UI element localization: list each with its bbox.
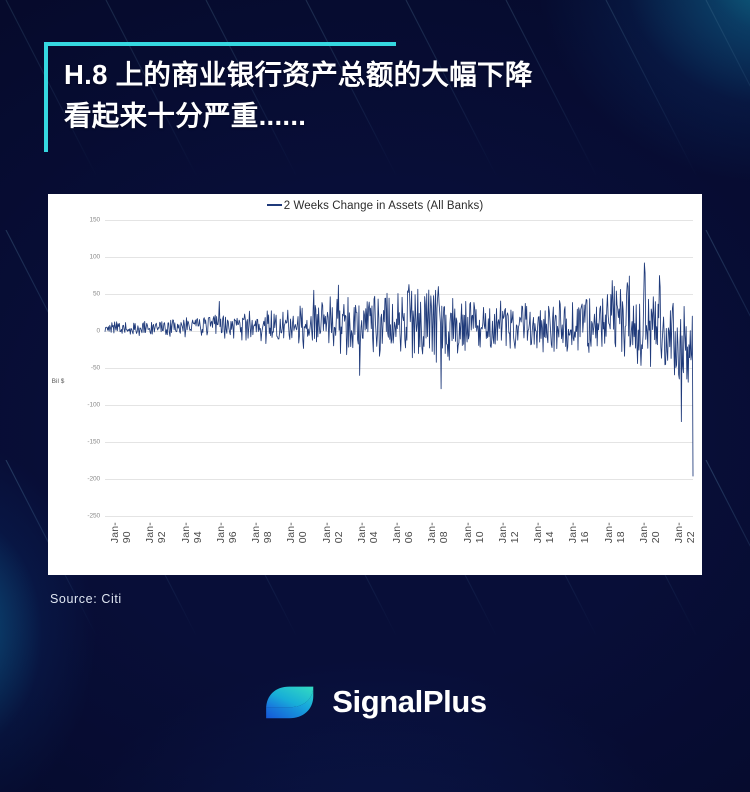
page-title: H.8 上的商业银行资产总额的大幅下降 看起来十分严重......	[44, 42, 704, 137]
signalplus-wave-logo-icon	[263, 678, 319, 726]
y-tick-label: 50	[66, 291, 100, 298]
x-tick-label: Jan-02	[321, 522, 345, 543]
title-accent-bar-top	[44, 42, 396, 46]
x-tick-label: Jan-08	[426, 522, 450, 543]
x-tick-label: Jan-20	[638, 522, 662, 543]
y-tick-label: 0	[66, 328, 100, 335]
legend-label: 2 Weeks Change in Assets (All Banks)	[284, 200, 484, 212]
y-axis-title: Bil $	[50, 378, 66, 385]
title-accent-bar-left	[44, 42, 48, 152]
brand-logo: SignalPlus	[0, 678, 750, 726]
x-tick-label: Jan-00	[285, 522, 309, 543]
x-tick-label: Jan-06	[391, 522, 415, 543]
y-tick-label: -50	[66, 365, 100, 372]
y-tick-label: 100	[66, 254, 100, 261]
plot-area: Jan-90Jan-92Jan-94Jan-96Jan-98Jan-00Jan-…	[105, 220, 693, 516]
gridline	[105, 516, 693, 517]
x-tick-label: Jan-22	[673, 522, 697, 543]
x-tick-label: Jan-14	[532, 522, 556, 543]
y-tick-label: -200	[66, 476, 100, 483]
x-tick-label: Jan-04	[356, 522, 380, 543]
plot-wrapper: Bil $ 150100500-50-100-150-200-250 Jan-9…	[48, 220, 702, 575]
y-tick-label: -100	[66, 402, 100, 409]
chart-legend: 2 Weeks Change in Assets (All Banks)	[48, 200, 702, 212]
series-line-chart	[105, 220, 693, 516]
x-tick-label: Jan-18	[603, 522, 627, 543]
y-tick-label: -150	[66, 439, 100, 446]
source-label: Source: Citi	[50, 592, 122, 606]
x-tick-label: Jan-16	[567, 522, 591, 543]
x-tick-label: Jan-94	[180, 522, 204, 543]
x-tick-label: Jan-96	[215, 522, 239, 543]
x-tick-label: Jan-98	[250, 522, 274, 543]
x-tick-label: Jan-10	[462, 522, 486, 543]
x-tick-label: Jan-92	[144, 522, 168, 543]
y-tick-label: -250	[66, 513, 100, 520]
chart-panel: 2 Weeks Change in Assets (All Banks) Bil…	[48, 194, 702, 575]
signalplus-wordmark: SignalPlus	[332, 684, 486, 720]
title-block: H.8 上的商业银行资产总额的大幅下降 看起来十分严重......	[44, 42, 704, 137]
x-tick-label: Jan-90	[109, 522, 133, 543]
series-path-2-weeks-change	[105, 263, 693, 476]
legend-line-swatch	[267, 204, 282, 206]
x-tick-label: Jan-12	[497, 522, 521, 543]
y-tick-label: 150	[66, 217, 100, 224]
